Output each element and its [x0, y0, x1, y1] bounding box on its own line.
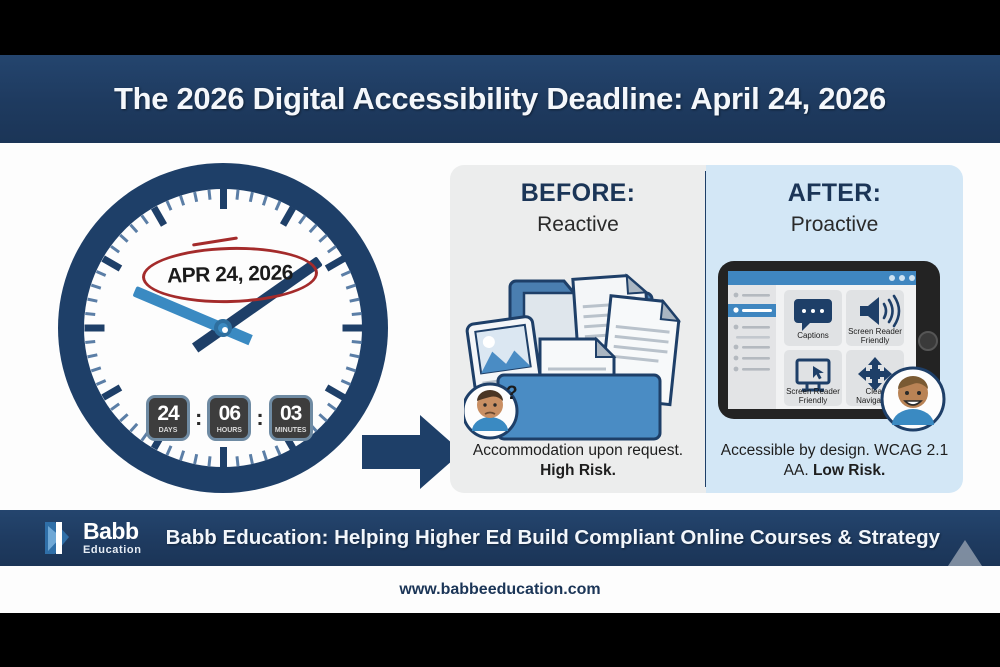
countdown-hours: 06 HOURS: [207, 395, 251, 441]
clock-tick-minor: [261, 195, 267, 205]
after-subheading: Proactive: [706, 213, 963, 237]
clock-tick-major: [101, 255, 122, 271]
clock-tick-minor: [193, 454, 198, 464]
countdown-hours-value: 06: [219, 403, 240, 424]
letterbox-top: [0, 0, 1000, 55]
clock-tick-minor: [140, 215, 148, 225]
clock-tick-minor: [345, 284, 355, 290]
clock-tick-minor: [351, 312, 361, 316]
clock-tick-minor: [193, 192, 198, 202]
footer-tagline: Babb Education: Helping Higher Ed Build …: [166, 526, 941, 550]
deadline-date-annotation: APR 24, 2026: [141, 245, 318, 306]
right-arrow-icon: [362, 409, 462, 495]
countdown-days-unit: DAYS: [159, 427, 178, 434]
clock-tick-minor: [326, 403, 336, 411]
clock-tick-minor: [207, 456, 211, 466]
after-caption-risk: Low Risk.: [813, 462, 885, 479]
clock-tick-minor: [345, 366, 355, 372]
clock-tick-minor: [318, 234, 327, 243]
countdown-minutes-unit: MINUTES: [275, 427, 307, 434]
countdown-days-value: 24: [157, 403, 178, 424]
clock-tick-minor: [207, 190, 211, 200]
before-heading-block: BEFORE: Reactive: [450, 179, 706, 237]
clock-tick-major: [324, 384, 345, 400]
content-area: APR 24, 2026 24 DAYS : 06 HOURS : 03: [0, 143, 1000, 510]
clock-tick-minor: [340, 379, 350, 386]
decorative-triangle-icon: [948, 540, 982, 566]
clock-tick-major: [279, 206, 295, 227]
panel-after: AFTER: Proactive: [706, 165, 963, 493]
clock-tick-minor: [235, 190, 239, 200]
countdown-timer: 24 DAYS : 06 HOURS : 03 MINUTES: [146, 395, 313, 441]
countdown-minutes-value: 03: [280, 403, 301, 424]
clock-tick-minor: [349, 298, 359, 303]
countdown-days: 24 DAYS: [146, 395, 190, 441]
messy-folder-icon: ?: [464, 253, 692, 443]
countdown-clock: APR 24, 2026 24 DAYS : 06 HOURS : 03: [58, 163, 388, 493]
clock-tick-minor: [261, 450, 267, 460]
clock-tick-minor: [308, 224, 317, 233]
countdown-minutes: 03 MINUTES: [269, 395, 313, 441]
clock-tick-minor: [248, 192, 253, 202]
clock-tick-minor: [326, 245, 336, 253]
clock-tick-major: [324, 255, 345, 271]
logo-wordmark: Babb: [83, 520, 142, 543]
clock-tick-minor: [351, 340, 361, 344]
footer-band: Babb Education Babb Education: Helping H…: [0, 510, 1000, 566]
clock-tick-minor: [165, 200, 172, 210]
after-heading-block: AFTER: Proactive: [706, 179, 963, 237]
countdown-hours-unit: HOURS: [217, 427, 242, 434]
clock-pivot: [214, 319, 232, 337]
clock-tick-minor: [274, 200, 281, 210]
babb-logo: Babb Education: [42, 518, 142, 558]
clock-tick-major: [84, 325, 104, 332]
annotation-stroke: [192, 236, 238, 246]
clock-tick-minor: [129, 423, 138, 432]
slide-canvas: The 2026 Digital Accessibility Deadline:…: [0, 0, 1000, 667]
clock-tick-minor: [235, 456, 239, 466]
clock-tick-minor: [90, 284, 100, 290]
babb-logo-icon: [42, 518, 76, 558]
clock-tick-minor: [274, 445, 281, 455]
before-heading: BEFORE:: [450, 179, 706, 208]
svg-text:Screen Reader: Screen Reader: [848, 327, 902, 336]
clock-tick-minor: [119, 234, 128, 243]
panel-before: BEFORE: Reactive: [450, 165, 706, 493]
clock-tick-minor: [340, 270, 350, 277]
before-caption-text: Accommodation upon request.: [473, 442, 683, 459]
clock-tick-major: [101, 384, 122, 400]
clock-tick-minor: [95, 270, 105, 277]
clock-tick-minor: [165, 445, 172, 455]
clock-tick-minor: [119, 413, 128, 422]
after-heading: AFTER:: [706, 179, 963, 208]
clock-tick-minor: [179, 450, 185, 460]
before-caption-risk: High Risk.: [540, 462, 616, 479]
after-caption: Accessible by design. WCAG 2.1 AA. Low R…: [716, 441, 953, 481]
clock-tick-minor: [179, 195, 185, 205]
clock-tick-major: [150, 206, 166, 227]
tablet-icon: Captions Screen ReaderFriendly Screen Re…: [714, 257, 956, 437]
clock-tick-minor: [85, 312, 95, 316]
clock-tick-minor: [95, 379, 105, 386]
clock-tick-minor: [90, 366, 100, 372]
svg-text:Friendly: Friendly: [861, 336, 889, 345]
clock-tick-minor: [129, 224, 138, 233]
clock-face: APR 24, 2026 24 DAYS : 06 HOURS : 03: [84, 189, 362, 467]
deadline-date-label: APR 24, 2026: [167, 261, 294, 288]
before-subheading: Reactive: [450, 213, 706, 237]
tile-label-captions: Captions: [797, 331, 829, 340]
website-url[interactable]: www.babbeeducation.com: [399, 581, 600, 599]
clock-tick-minor: [248, 454, 253, 464]
clock-tick-minor: [87, 298, 97, 303]
countdown-separator-2: :: [255, 405, 264, 431]
page-title: The 2026 Digital Accessibility Deadline:…: [114, 81, 886, 117]
before-caption: Accommodation upon request. High Risk.: [460, 441, 696, 481]
header-band: The 2026 Digital Accessibility Deadline:…: [0, 55, 1000, 143]
logo-subtitle: Education: [83, 545, 142, 556]
clock-tick-minor: [110, 245, 120, 253]
countdown-separator: :: [194, 405, 203, 431]
svg-text:?: ?: [506, 383, 518, 404]
clock-tick-major: [220, 447, 227, 467]
clock-tick-minor: [110, 403, 120, 411]
clock-tick-major: [220, 189, 227, 209]
url-bar: www.babbeeducation.com: [0, 566, 1000, 613]
clock-tick-minor: [349, 353, 359, 358]
clock-tick-minor: [298, 215, 306, 225]
svg-text:Screen Reader: Screen Reader: [786, 387, 840, 396]
clock-tick-minor: [87, 353, 97, 358]
clock-tick-minor: [85, 340, 95, 344]
clock-tick-minor: [318, 413, 327, 422]
svg-text:Friendly: Friendly: [799, 396, 827, 405]
letterbox-bottom: [0, 613, 1000, 667]
clock-tick-major: [342, 325, 362, 332]
